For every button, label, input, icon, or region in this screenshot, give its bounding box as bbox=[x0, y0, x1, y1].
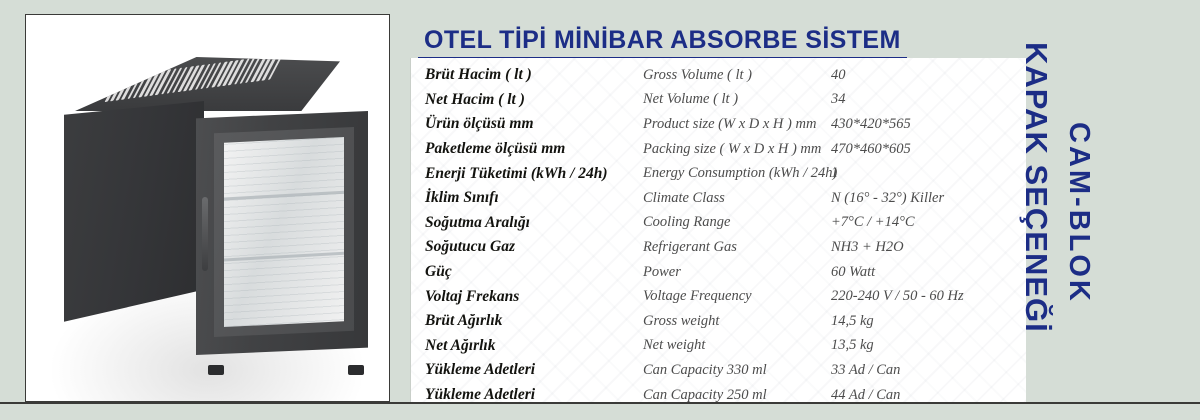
spec-value: 430*420*565 bbox=[831, 116, 1026, 133]
spec-label-en: Product size (W x D x H ) mm bbox=[643, 116, 831, 133]
spec-label-en: Net weight bbox=[643, 337, 831, 354]
spec-label-tr: Net Hacim ( lt ) bbox=[411, 91, 643, 109]
wire-shelf-grille bbox=[224, 137, 344, 327]
photo-stage bbox=[26, 15, 389, 401]
spec-table: Brüt Hacim ( lt )Gross Volume ( lt )40Ne… bbox=[410, 58, 1026, 402]
product-photo-panel bbox=[25, 14, 390, 402]
spec-row: Yükleme AdetleriCan Capacity 250 ml44 Ad… bbox=[411, 383, 1026, 402]
spec-label-en: Gross weight bbox=[643, 313, 831, 330]
spec-value: N (16° - 32°) Killer bbox=[831, 190, 1026, 207]
spec-label-tr: Soğutucu Gaz bbox=[411, 238, 643, 256]
spec-value: 34 bbox=[831, 91, 1026, 108]
spec-label-tr: Brüt Ağırlık bbox=[411, 312, 643, 330]
glass-pane bbox=[224, 137, 344, 327]
spec-label-tr: Enerji Tüketimi (kWh / 24h) bbox=[411, 165, 643, 183]
spec-row: Ürün ölçüsü mmProduct size (W x D x H ) … bbox=[411, 112, 1026, 137]
spec-row: Brüt AğırlıkGross weight14,5 kg bbox=[411, 309, 1026, 334]
spec-label-en: Can Capacity 330 ml bbox=[643, 362, 831, 379]
spec-label-en: Voltage Frequency bbox=[643, 288, 831, 305]
spec-label-en: Gross Volume ( lt ) bbox=[643, 67, 831, 84]
spec-row: Net AğırlıkNet weight13,5 kg bbox=[411, 334, 1026, 359]
caption-kapak-secenegi: KAPAK SEÇENEĞİ bbox=[1018, 42, 1054, 333]
spec-label-en: Power bbox=[643, 264, 831, 281]
spec-value: 44 Ad / Can bbox=[831, 387, 1026, 402]
spec-label-en: Packing size ( W x D x H ) mm bbox=[643, 141, 831, 158]
spec-label-tr: Ürün ölçüsü mm bbox=[411, 115, 643, 133]
spec-label-en: Energy Consumption (kWh / 24h) bbox=[643, 165, 831, 182]
spec-row: Net Hacim ( lt )Net Volume ( lt )34 bbox=[411, 88, 1026, 113]
caption-cam-blok: CAM-BLOK bbox=[1062, 122, 1095, 304]
spec-label-tr: Brüt Hacim ( lt ) bbox=[411, 66, 643, 84]
ventilation-slots bbox=[105, 54, 284, 102]
spec-value: 470*460*605 bbox=[831, 141, 1026, 158]
spec-value: 14,5 kg bbox=[831, 313, 1026, 330]
spec-label-tr: Güç bbox=[411, 263, 643, 281]
cabinet-side-face bbox=[64, 101, 204, 331]
cabinet-foot bbox=[208, 365, 224, 375]
spec-label-tr: Net Ağırlık bbox=[411, 337, 643, 355]
spec-value: 220-240 V / 50 - 60 Hz bbox=[831, 288, 1026, 305]
spec-value: 60 Watt bbox=[831, 264, 1026, 281]
spec-table-body: Brüt Hacim ( lt )Gross Volume ( lt )40Ne… bbox=[411, 58, 1026, 402]
spec-label-en: Climate Class bbox=[643, 190, 831, 207]
spec-row: Yükleme AdetleriCan Capacity 330 ml33 Ad… bbox=[411, 358, 1026, 383]
spec-value: +7°C / +14°C bbox=[831, 214, 1026, 231]
minibar-refrigerator-icon bbox=[56, 57, 374, 367]
bottom-divider bbox=[0, 402, 1200, 404]
door-inner-frame bbox=[214, 127, 354, 337]
spec-label-en: Refrigerant Gas bbox=[643, 239, 831, 256]
spec-label-tr: İklim Sınıfı bbox=[411, 189, 643, 207]
spec-row: Soğutucu GazRefrigerant GasNH3 + H2O bbox=[411, 235, 1026, 260]
spec-row: Soğutma AralığıCooling Range+7°C / +14°C bbox=[411, 211, 1026, 236]
spec-row: GüçPower60 Watt bbox=[411, 260, 1026, 285]
spec-row: Enerji Tüketimi (kWh / 24h)Energy Consum… bbox=[411, 161, 1026, 186]
spec-label-en: Can Capacity 250 ml bbox=[643, 387, 831, 402]
cabinet-foot bbox=[348, 365, 364, 375]
door-handle bbox=[202, 197, 208, 271]
spec-value: NH3 + H2O bbox=[831, 239, 1026, 256]
spec-label-tr: Yükleme Adetleri bbox=[411, 386, 643, 402]
spec-label-tr: Yükleme Adetleri bbox=[411, 361, 643, 379]
glass-door bbox=[196, 111, 368, 355]
spec-row: İklim SınıfıClimate ClassN (16° - 32°) K… bbox=[411, 186, 1026, 211]
spec-value: 40 bbox=[831, 67, 1026, 84]
spec-label-en: Net Volume ( lt ) bbox=[643, 91, 831, 108]
spec-row: Voltaj FrekansVoltage Frequency220-240 V… bbox=[411, 284, 1026, 309]
spec-value: 13,5 kg bbox=[831, 337, 1026, 354]
spec-label-tr: Voltaj Frekans bbox=[411, 288, 643, 306]
spec-label-en: Cooling Range bbox=[643, 214, 831, 231]
spec-label-tr: Soğutma Aralığı bbox=[411, 214, 643, 232]
spec-label-tr: Paketleme ölçüsü mm bbox=[411, 140, 643, 158]
spec-row: Brüt Hacim ( lt )Gross Volume ( lt )40 bbox=[411, 63, 1026, 88]
spec-value: 1 bbox=[831, 165, 1026, 182]
spec-row: Paketleme ölçüsü mmPacking size ( W x D … bbox=[411, 137, 1026, 162]
spec-table-title: OTEL TİPİ MİNİBAR ABSORBE SİSTEM bbox=[418, 26, 907, 60]
spec-value: 33 Ad / Can bbox=[831, 362, 1026, 379]
